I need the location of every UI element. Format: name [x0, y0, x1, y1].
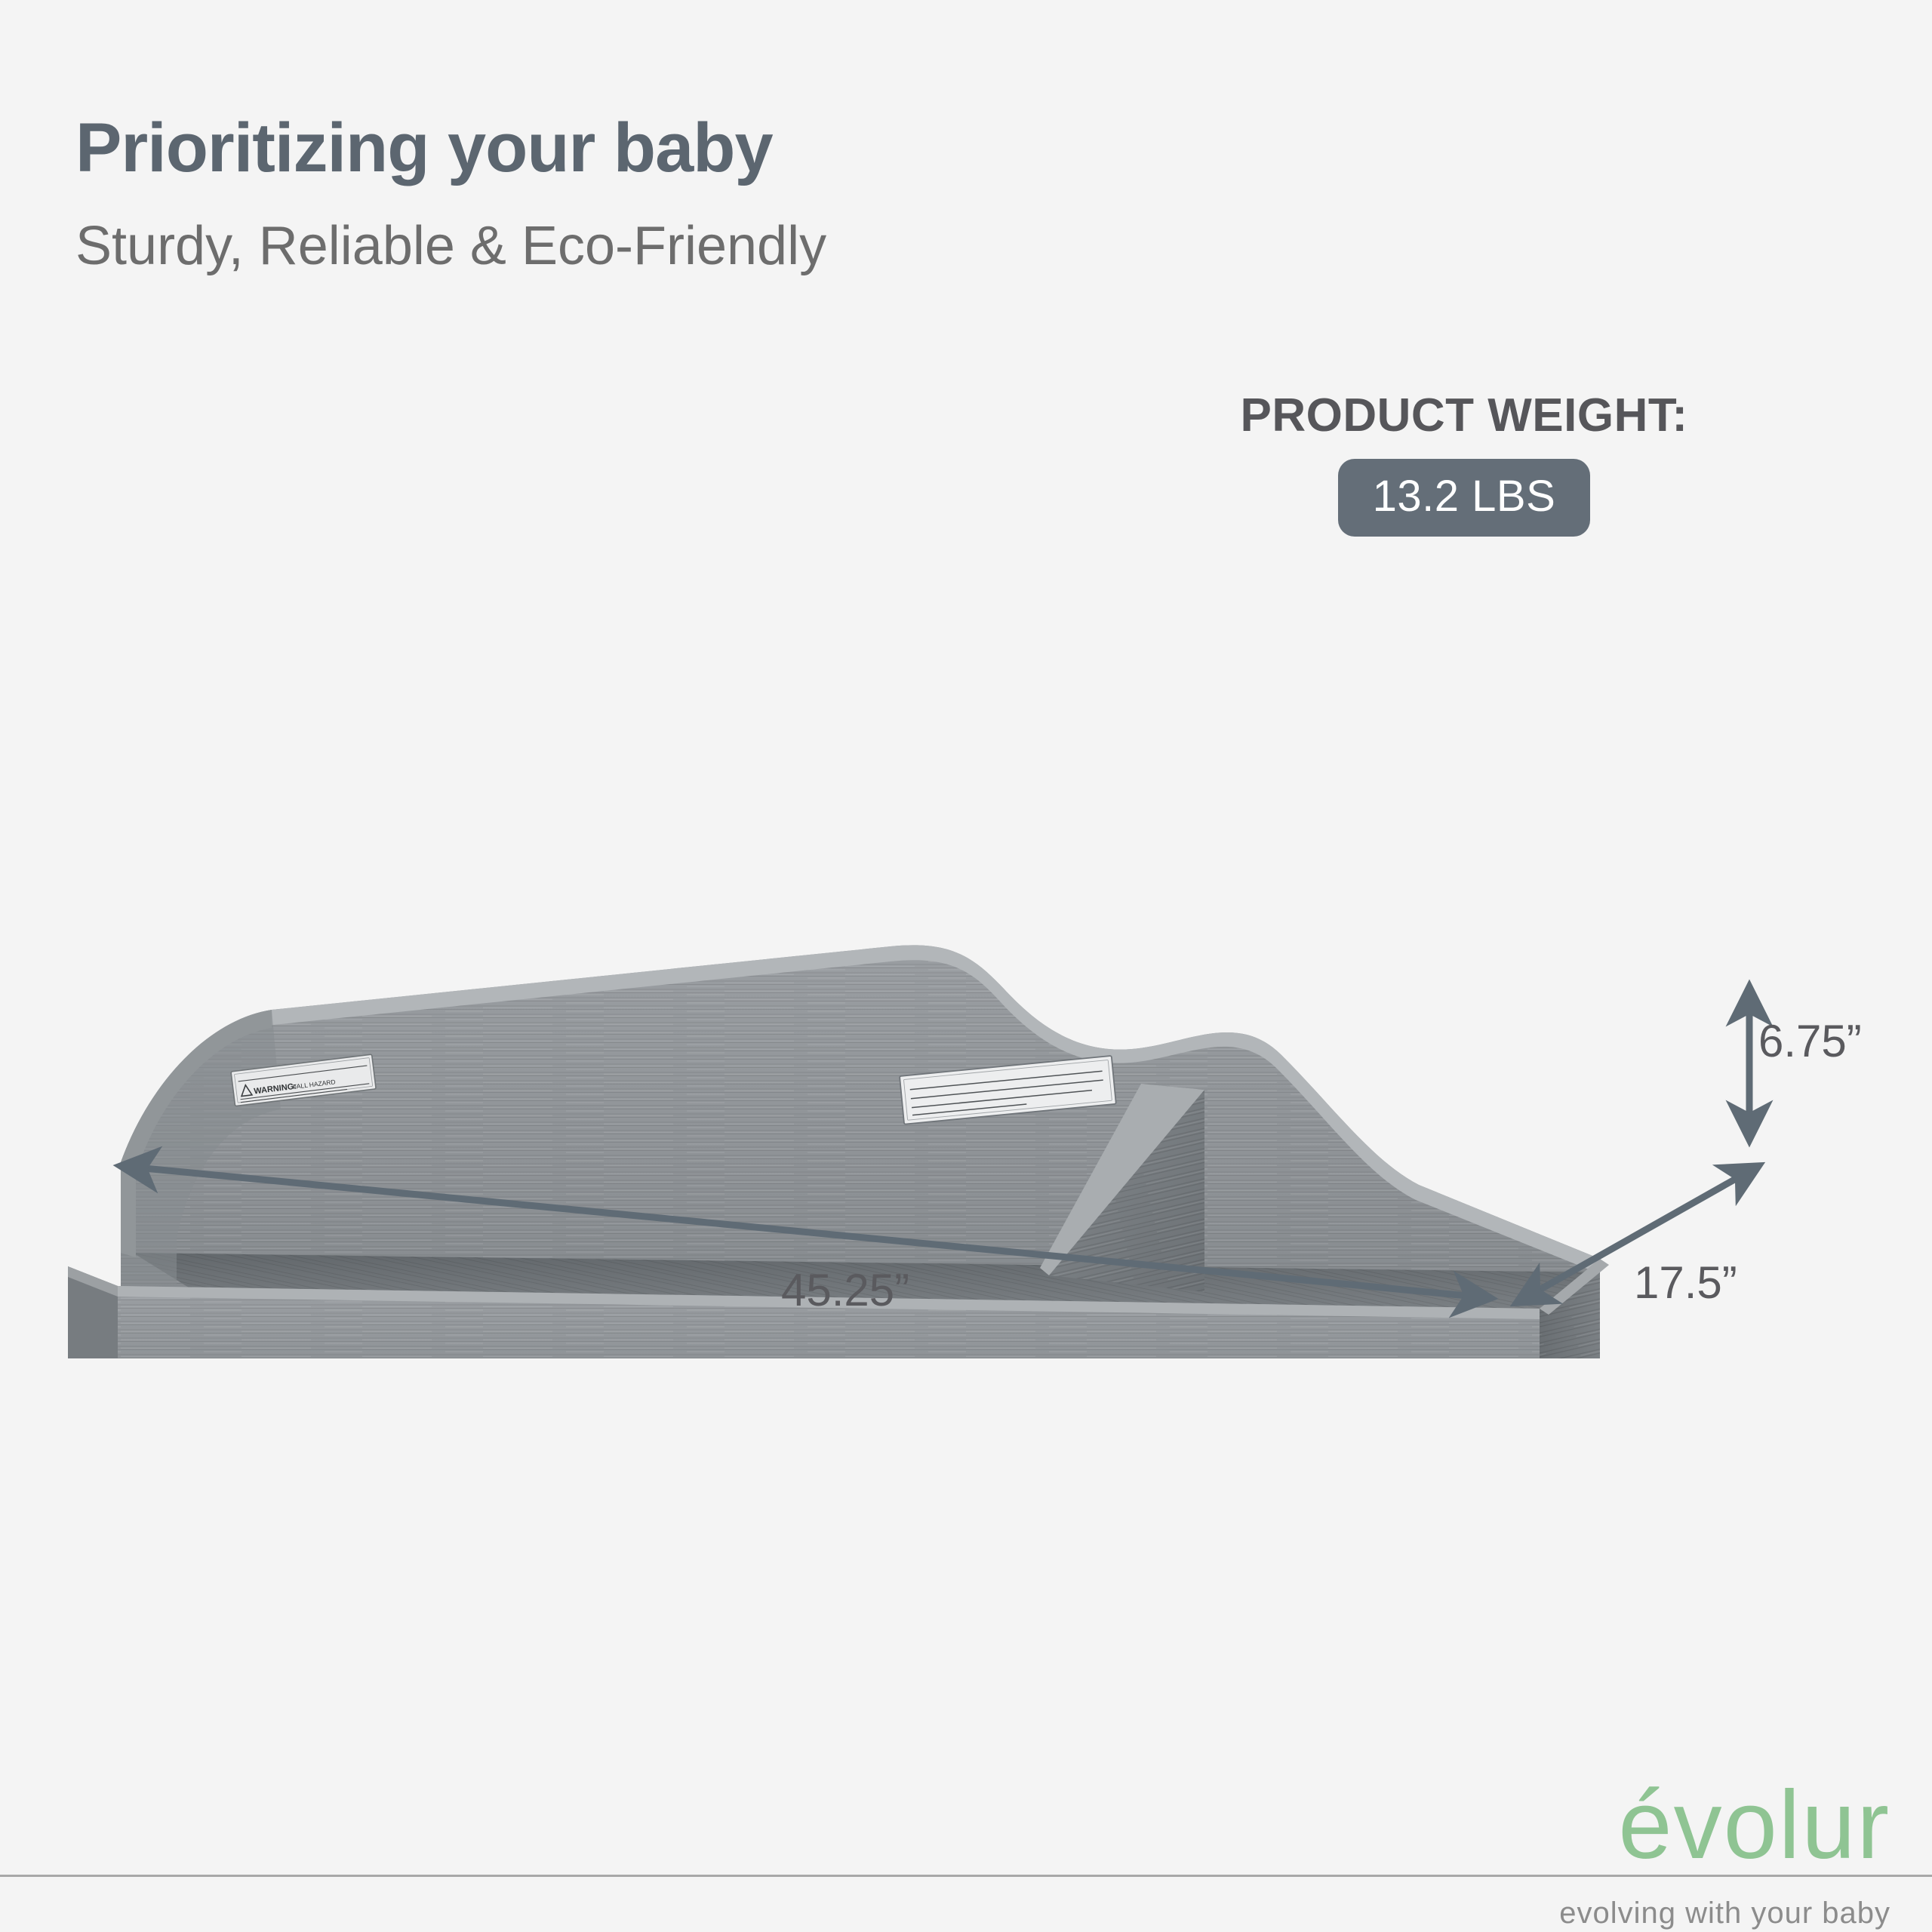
width-dimension-label: 45.25” [781, 1264, 909, 1316]
brand-logo-wordmark: évolur [1468, 1777, 1890, 1874]
depth-dimension-label: 17.5” [1634, 1257, 1737, 1309]
dimension-arrows [0, 0, 1932, 1932]
height-dimension-label: 6.75” [1758, 1015, 1862, 1067]
brand-logo: évolur evolving with your baby [1468, 1777, 1890, 1930]
brand-tagline: evolving with your baby [1468, 1897, 1890, 1930]
infographic-page: Prioritizing your baby Sturdy, Reliable … [0, 0, 1932, 1932]
